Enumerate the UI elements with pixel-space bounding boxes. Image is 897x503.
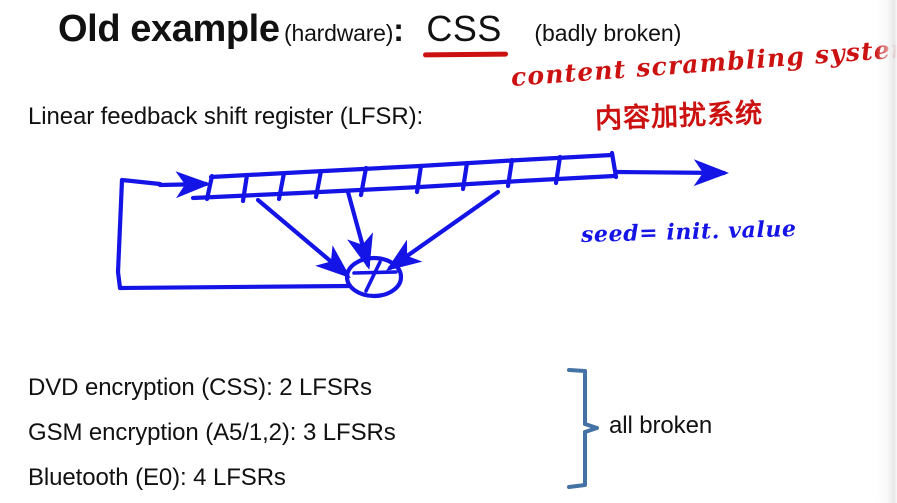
- title-qualifier-text: (hardware): [284, 20, 393, 46]
- register-cell-divider: [243, 175, 247, 201]
- register-bottom-edge: [193, 176, 614, 198]
- register-output-arrow: [617, 172, 724, 173]
- title-colon: :: [393, 12, 404, 48]
- xor-gate-circle: [347, 258, 401, 296]
- brace-lower-arm: [569, 432, 585, 487]
- css-acronym-text: CSS: [426, 8, 502, 49]
- page-edge-shadow: [875, 0, 897, 503]
- handwritten-red-chinese-annotation: 内容加扰系统: [594, 91, 763, 136]
- lfsr-usage-list: DVD encryption (CSS): 2 LFSRs GSM encryp…: [28, 365, 396, 500]
- register-cell-divider: [508, 160, 512, 186]
- register-input-arrow: [160, 184, 206, 185]
- page-title: Old example (hardware): CSS (badly broke…: [58, 8, 681, 51]
- list-item: Bluetooth (E0): 4 LFSRs: [28, 455, 396, 500]
- register-cell-divider: [361, 168, 366, 195]
- tap-wire-1: [258, 200, 347, 275]
- list-item: DVD encryption (CSS): 2 LFSRs: [28, 365, 396, 410]
- register-left-edge: [207, 176, 212, 199]
- brace-middle-point: [585, 424, 597, 432]
- css-acronym-group: CSS: [426, 8, 502, 50]
- tap-wire-2: [348, 192, 368, 265]
- lfsr-heading-text: Linear feedback shift register (LFSR):: [28, 103, 423, 131]
- register-cell-divider: [463, 163, 467, 189]
- title-main-text: Old example: [58, 8, 280, 50]
- slide-canvas: Old example (hardware): CSS (badly broke…: [0, 0, 897, 503]
- feedback-loop-wire: [118, 180, 350, 288]
- xor-plus-vertical: [366, 262, 380, 291]
- register-cell-divider: [279, 173, 284, 199]
- register-right-edge: [612, 153, 616, 177]
- register-top-edge: [211, 155, 612, 177]
- summary-label-text: all broken: [609, 412, 712, 440]
- xor-plus-horizontal: [354, 272, 396, 273]
- feedback-loop-top-wire: [122, 180, 160, 184]
- title-status-note: (badly broken): [534, 20, 681, 46]
- red-underline-mark: [423, 52, 508, 58]
- register-cell-divider: [556, 157, 560, 183]
- grouping-brace: [563, 366, 615, 494]
- register-cell-divider: [417, 166, 421, 192]
- list-item: GSM encryption (A5/1,2): 3 LFSRs: [28, 410, 396, 455]
- brace-upper-arm: [569, 370, 585, 424]
- register-cell-divider: [316, 171, 321, 197]
- tap-wire-3: [390, 192, 498, 268]
- handwritten-blue-seed-annotation: seed= init. value: [581, 216, 797, 248]
